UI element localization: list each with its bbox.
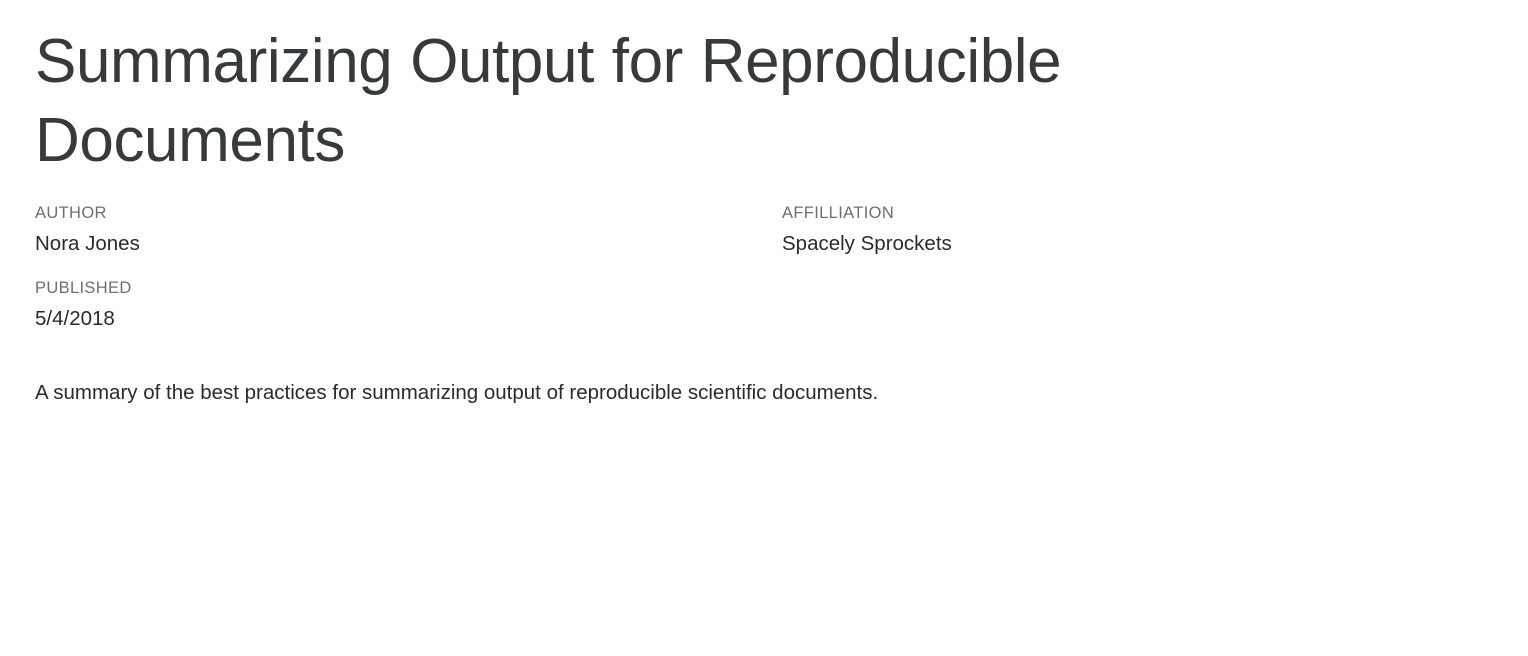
meta-field-affiliation: AFFILLIATION Spacely Sprockets <box>782 203 1493 278</box>
title-metadata-grid: AUTHOR Nora Jones AFFILLIATION Spacely S… <box>35 203 1493 353</box>
page-title: Summarizing Output for Reproducible Docu… <box>35 22 1345 181</box>
affiliation-label: AFFILLIATION <box>782 203 1493 224</box>
affiliation-value: Spacely Sprockets <box>782 230 1493 258</box>
meta-field-published: PUBLISHED 5/4/2018 <box>35 278 782 353</box>
author-label: AUTHOR <box>35 203 782 224</box>
title-block-header: Summarizing Output for Reproducible Docu… <box>35 0 1493 353</box>
document-page: Summarizing Output for Reproducible Docu… <box>0 0 1528 656</box>
meta-field-author: AUTHOR Nora Jones <box>35 203 782 278</box>
published-value: 5/4/2018 <box>35 305 782 333</box>
author-value: Nora Jones <box>35 230 782 258</box>
meta-field-empty <box>782 278 1493 298</box>
published-label: PUBLISHED <box>35 278 782 299</box>
document-description: A summary of the best practices for summ… <box>35 378 1345 409</box>
